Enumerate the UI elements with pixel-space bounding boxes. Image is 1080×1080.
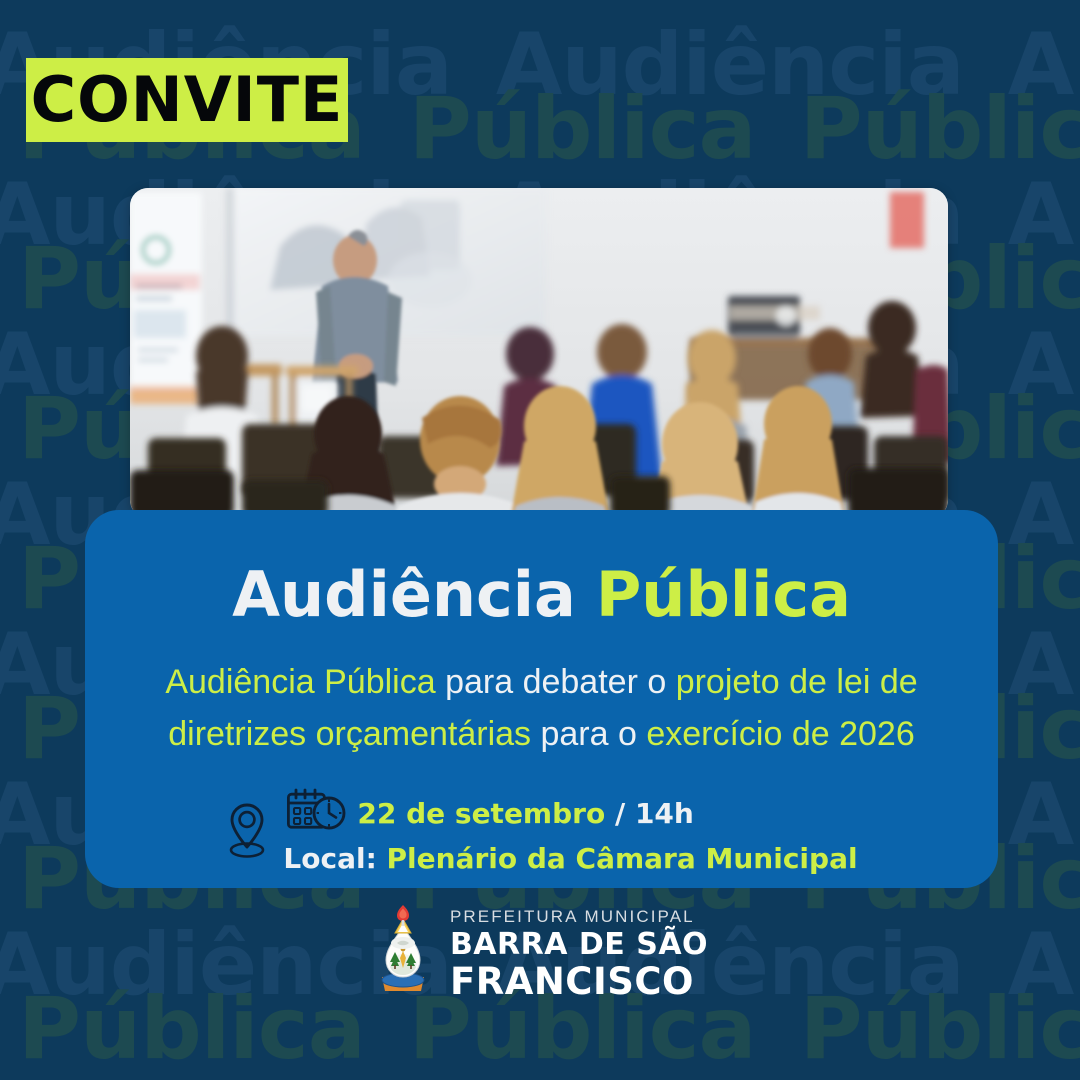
location-pin-icon bbox=[225, 800, 269, 862]
calendar-clock-icon bbox=[285, 787, 347, 840]
watermark-word: Audiência bbox=[1008, 472, 1080, 558]
watermark-word: Audiência bbox=[1008, 622, 1080, 708]
detail-lines: 22 de setembro / 14h Local: Plenário da … bbox=[283, 787, 857, 875]
audience-photo bbox=[130, 188, 948, 518]
convite-badge-label: CONVITE bbox=[31, 69, 344, 131]
date-line: 22 de setembro / 14h bbox=[283, 787, 857, 840]
watermark-word: Audiência bbox=[1008, 172, 1080, 258]
description-green-4: exercício de 2026 bbox=[646, 715, 914, 753]
logo-city-line-2: FRANCISCO bbox=[450, 963, 708, 1000]
place-line: Local: Plenário da Câmara Municipal bbox=[283, 842, 857, 875]
watermark-word: Audiência bbox=[1008, 322, 1080, 408]
watermark-word: Pública bbox=[409, 86, 756, 172]
logo-text: PREFEITURA MUNICIPAL BARRA DE SÃO FRANCI… bbox=[450, 908, 708, 1000]
place-label: Local: bbox=[283, 842, 386, 875]
card-title-green: Pública bbox=[596, 558, 851, 631]
poster-canvas: AudiênciaAudiênciaAudiência PúblicaPúbli… bbox=[0, 0, 1080, 1080]
logo-prefecture-label: PREFEITURA MUNICIPAL bbox=[450, 908, 708, 925]
event-date: 22 de setembro bbox=[357, 797, 605, 830]
municipal-coat-of-arms-icon bbox=[372, 905, 434, 1002]
watermark-word: Audiência bbox=[496, 22, 964, 108]
card-title-white: Audiência bbox=[232, 558, 576, 631]
watermark-word: Pública bbox=[800, 86, 1080, 172]
watermark-word: Audiência bbox=[1008, 772, 1080, 858]
card-description: Audiência Pública para debater o projeto… bbox=[119, 656, 964, 761]
date-separator: / bbox=[605, 797, 635, 830]
place-value: Plenário da Câmara Municipal bbox=[387, 842, 858, 875]
convite-badge: CONVITE bbox=[26, 58, 348, 142]
event-time: 14h bbox=[635, 797, 694, 830]
description-white-2: para o bbox=[531, 715, 646, 753]
description-green-2: projeto de lei de bbox=[676, 663, 918, 701]
watermark-word: Audiência bbox=[1008, 22, 1080, 108]
event-details: 22 de setembro / 14h Local: Plenário da … bbox=[119, 787, 964, 875]
description-green-1: Audiência Pública bbox=[165, 663, 435, 701]
footer-logo: PREFEITURA MUNICIPAL BARRA DE SÃO FRANCI… bbox=[0, 905, 1080, 1002]
logo-city-line-1: BARRA DE SÃO bbox=[450, 930, 708, 960]
card-title: AudiênciaPública bbox=[119, 562, 964, 628]
info-card: AudiênciaPública Audiência Pública para … bbox=[85, 510, 998, 888]
description-green-3: diretrizes orçamentárias bbox=[168, 715, 531, 753]
description-white-1: para debater o bbox=[436, 663, 676, 701]
